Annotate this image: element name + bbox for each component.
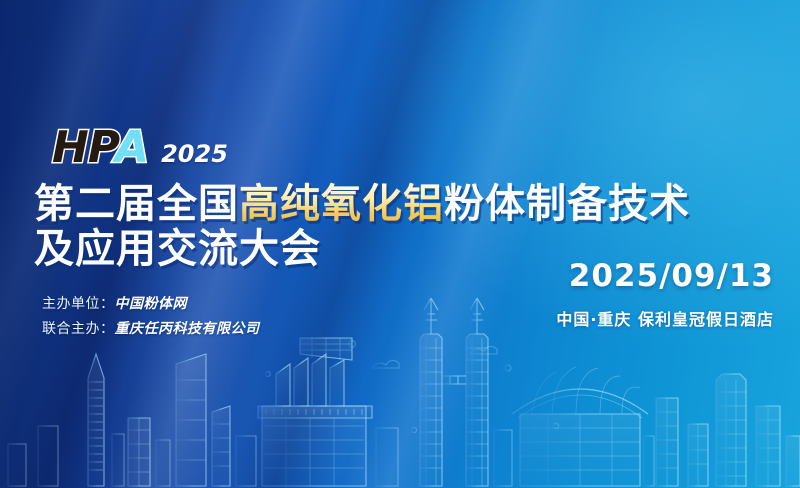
organizer-list: 主办单位：中国粉体网 联合主办：重庆任丙科技有限公司 <box>42 292 260 341</box>
hpa-logo-accent: A <box>115 122 148 173</box>
organizer-value: 重庆任丙科技有限公司 <box>115 321 260 337</box>
organizer-label: 主办单位： <box>42 296 115 312</box>
logo-year: 2025 <box>161 142 228 166</box>
organizer-row: 主办单位：中国粉体网 <box>42 292 260 317</box>
title-line-1: 第二届全国高纯氧化铝粉体制备技术 <box>34 182 794 227</box>
conference-banner: HPA 2025 第二届全国高纯氧化铝粉体制备技术 及应用交流大会 主办单位：中… <box>0 0 800 488</box>
title-line-1-highlight: 高纯氧化铝 <box>239 181 444 227</box>
hpa-logo-dark: HP <box>52 122 115 173</box>
event-date: 2025/09/13 <box>569 258 774 294</box>
organizer-label: 联合主办： <box>42 321 115 337</box>
organizer-row: 联合主办：重庆任丙科技有限公司 <box>42 317 260 342</box>
event-logo: HPA 2025 <box>52 126 228 170</box>
event-venue: 中国·重庆 保利皇冠假日酒店 <box>556 306 774 330</box>
hpa-logotype: HPA <box>52 126 148 170</box>
organizer-value: 中国粉体网 <box>115 296 188 312</box>
title-line-1-suffix: 粉体制备技术 <box>444 181 690 227</box>
title-line-1-prefix: 第二届全国 <box>34 181 239 227</box>
banner-content: HPA 2025 第二届全国高纯氧化铝粉体制备技术 及应用交流大会 主办单位：中… <box>0 0 800 488</box>
